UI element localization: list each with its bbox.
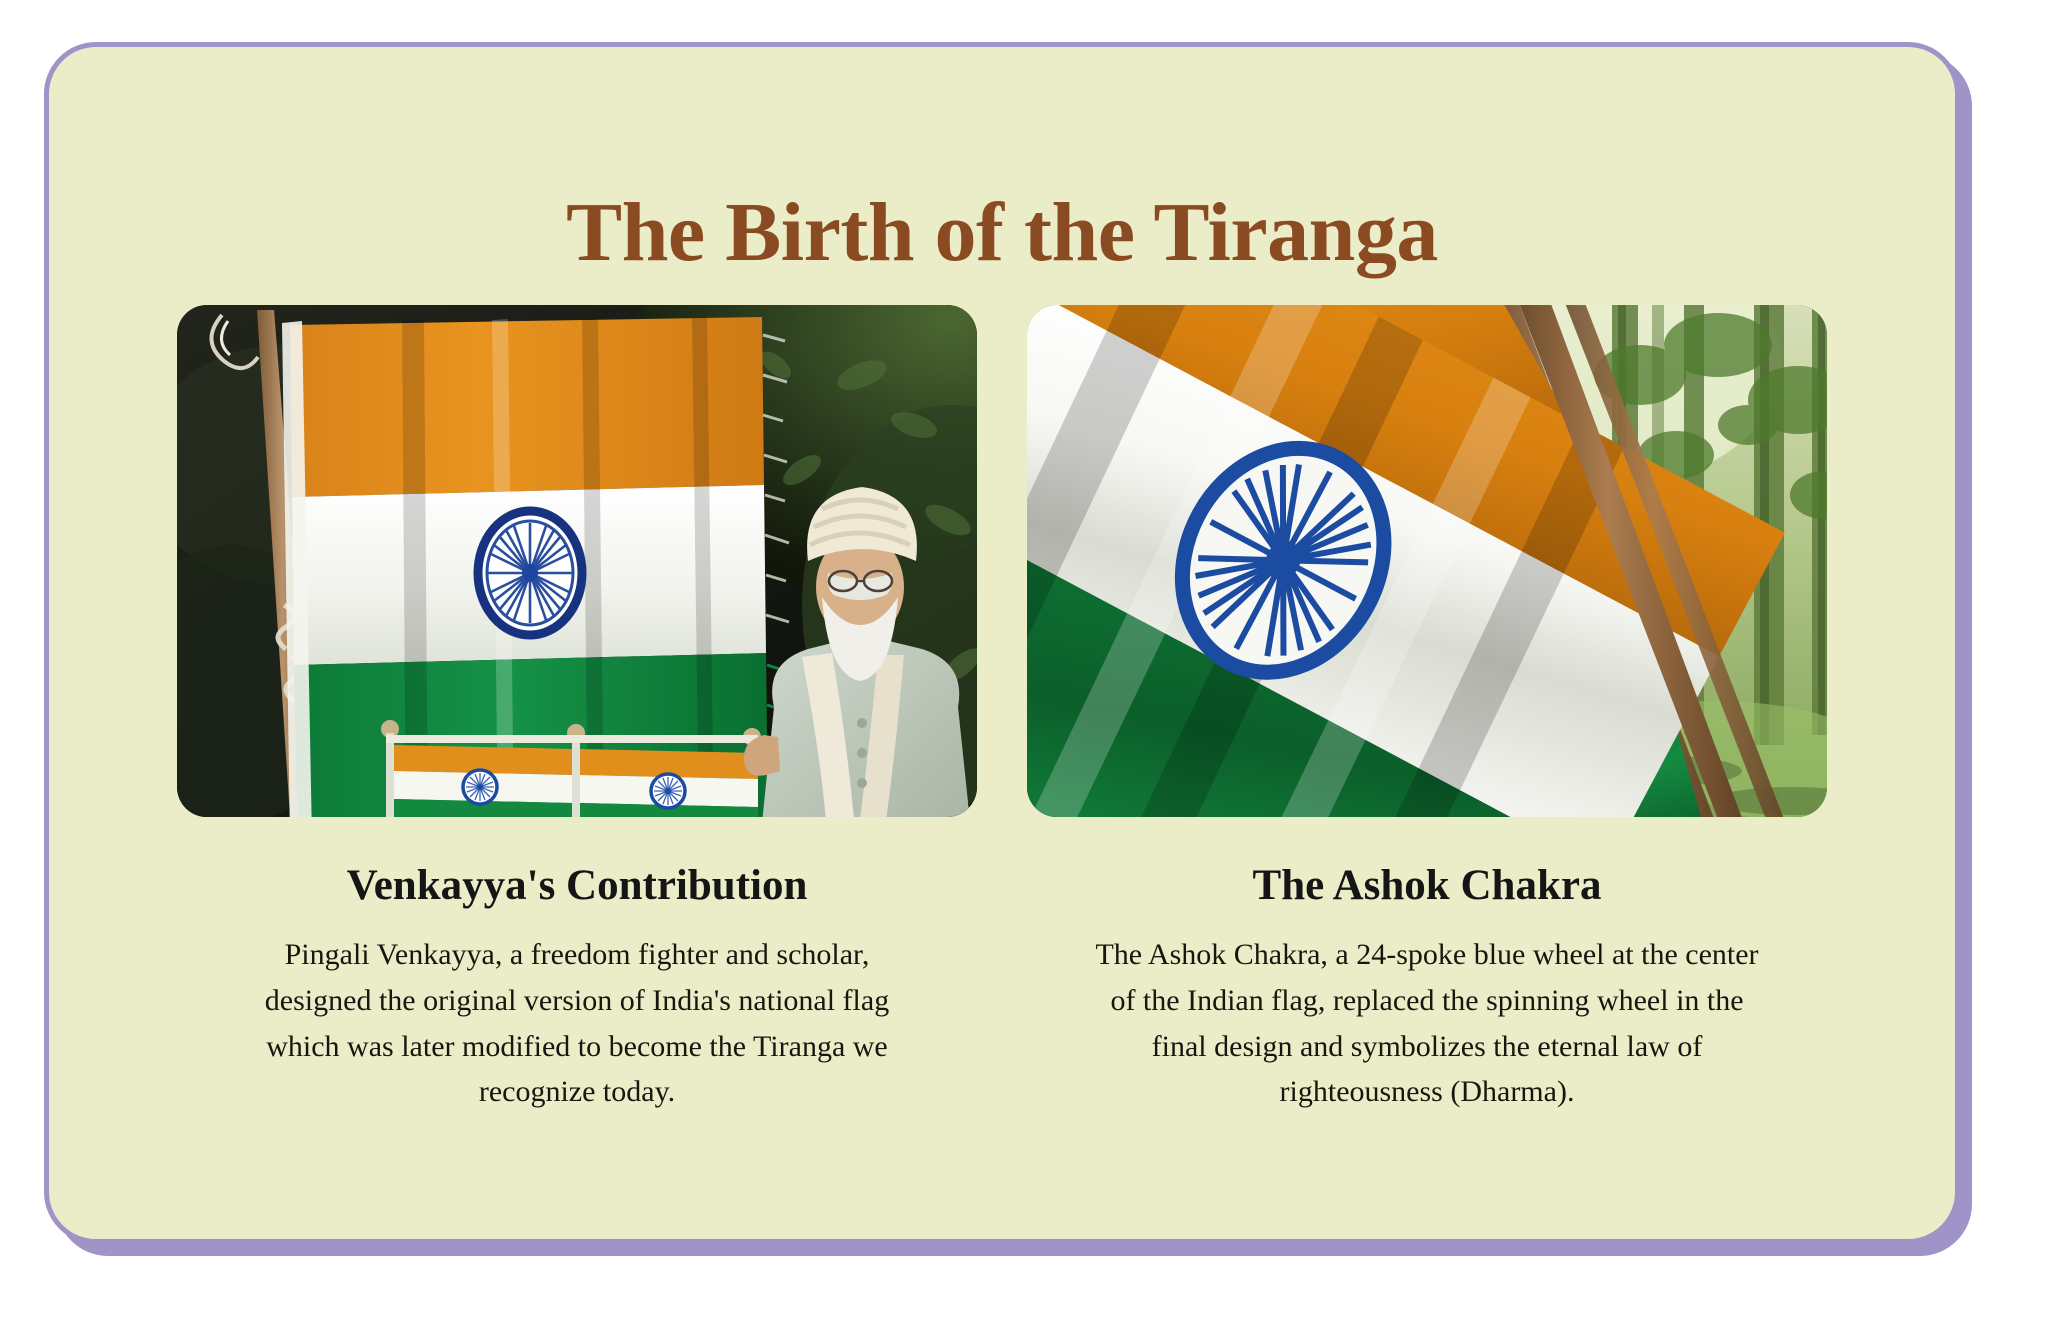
ashok-chakra-flag-illustration — [1027, 305, 1827, 817]
pingali-venkayya-flag-illustration — [177, 305, 977, 817]
content-column-ashok-chakra: The Ashok Chakra The Ashok Chakra, a 24-… — [1027, 305, 1827, 1115]
card-body-ashok-chakra: The Ashok Chakra, a 24-spoke blue wheel … — [1087, 932, 1767, 1114]
page-title: The Birth of the Tiranga — [49, 191, 1955, 275]
card-heading-ashok-chakra: The Ashok Chakra — [1253, 861, 1602, 910]
content-columns: Venkayya's Contribution Pingali Venkayya… — [177, 305, 1827, 1115]
image-venkayya-contribution — [177, 305, 977, 817]
ashok-chakra-icon — [478, 511, 582, 635]
content-column-venkayya: Venkayya's Contribution Pingali Venkayya… — [177, 305, 977, 1115]
card-body-venkayya: Pingali Venkayya, a freedom fighter and … — [237, 932, 917, 1114]
card-heading-venkayya: Venkayya's Contribution — [347, 861, 808, 910]
slide-card: The Birth of the Tiranga — [44, 42, 1960, 1244]
image-ashok-chakra — [1027, 305, 1827, 817]
